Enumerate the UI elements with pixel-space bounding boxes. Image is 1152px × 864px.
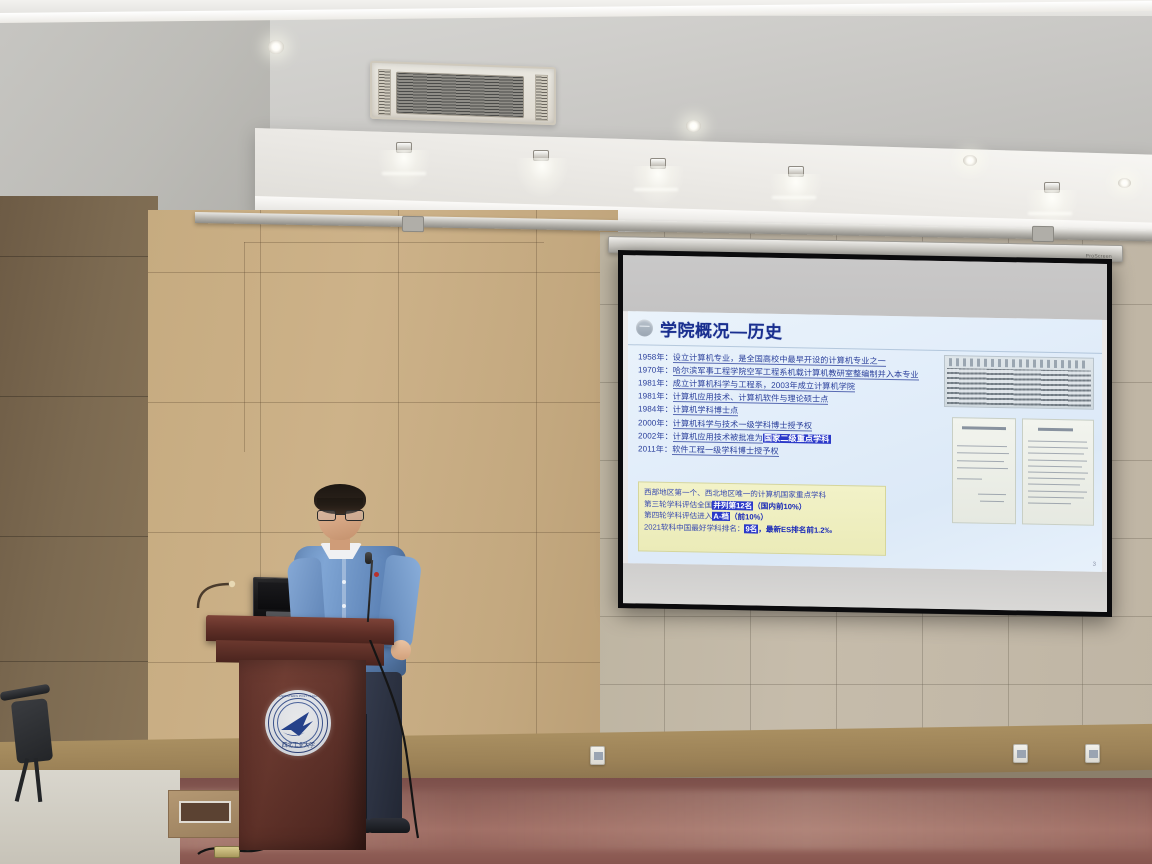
downlight-3 xyxy=(963,155,977,166)
timeline-year: 1958年： xyxy=(638,352,673,362)
slide-highlight-box: 西部地区第一个、西北地区唯一的计算机国家重点学科第三轮学科评估全国并列第12名（… xyxy=(638,481,886,556)
timeline-year: 1970年： xyxy=(638,365,673,375)
highlight-post: ，最新ES排名前1.2‰ xyxy=(758,524,832,534)
emblem-english-text: NORTHWESTERN POLYTECHNICAL UNIVERSITY xyxy=(270,694,326,704)
timeline-year: 1984年： xyxy=(638,405,673,415)
screen-letterbox-top xyxy=(623,255,1107,320)
emblem-chinese-text: 西北工业大学 xyxy=(273,742,323,751)
rail-bracket-1 xyxy=(402,216,424,232)
highlight-pre: 2021软科中国最好学科排名： xyxy=(644,522,744,533)
wall-outlet-3[interactable] xyxy=(1085,744,1100,763)
highlight-post: （国内前10%） xyxy=(753,501,806,511)
microphone-cable xyxy=(356,640,446,840)
ceiling-air-conditioner-icon xyxy=(370,61,556,125)
highlight-emphasis: 9名 xyxy=(744,524,758,533)
timeline-text: 软件工程一级学科博士授予权 xyxy=(672,445,779,457)
group-photo-crowd xyxy=(947,368,1091,407)
slide-bullet-icon: 一 xyxy=(636,319,653,336)
highlight-emphasis: A-档 xyxy=(712,512,730,521)
ac-grille xyxy=(396,72,524,118)
wall-outlet-1[interactable] xyxy=(590,746,605,765)
spotlight-5 xyxy=(1044,182,1060,193)
vga-connector[interactable] xyxy=(214,846,240,858)
microphone-indicator xyxy=(374,572,379,577)
timeline-text: 计算机应用技术被批准为 xyxy=(673,432,763,444)
chair-leg-2 xyxy=(34,758,43,802)
highlight-pre: 第四轮学科评估进入 xyxy=(644,511,712,521)
presenter-glasses-icon xyxy=(317,510,364,521)
spotlight-1-flare xyxy=(382,172,426,175)
spotlight-2 xyxy=(533,150,549,161)
spotlight-3-flare xyxy=(634,188,678,191)
projection-screen-surface: 一 学院概况—历史 1958年：设立计算机专业，是全国高校中最早开设的计算机专业… xyxy=(623,255,1107,612)
presentation-room-photo: ProScreen 一 学院概况—历史 1958年：设立计算机专业，是全国高校中… xyxy=(0,0,1152,864)
podium[interactable]: NORTHWESTERN POLYTECHNICAL UNIVERSITY 西北… xyxy=(239,660,366,850)
wall-outlet-2[interactable] xyxy=(1013,744,1028,763)
chair[interactable] xyxy=(6,700,66,830)
podium-gooseneck-lamp[interactable] xyxy=(196,580,236,610)
chair-backrest xyxy=(11,698,53,763)
timeline-text: 计算机科学与技术一级学科博士授予权 xyxy=(673,419,812,432)
ac-vent-left xyxy=(378,69,391,115)
timeline-year: 2000年： xyxy=(638,418,673,428)
highlight-post: （前10%） xyxy=(730,512,768,522)
projection-screen[interactable]: 一 学院概况—历史 1958年：设立计算机专业，是全国高校中最早开设的计算机专业… xyxy=(618,250,1112,617)
spotlight-5-flare xyxy=(1028,212,1072,215)
university-emblem-icon: NORTHWESTERN POLYTECHNICAL UNIVERSITY 西北… xyxy=(265,690,331,756)
floor-av-box[interactable] xyxy=(168,790,246,838)
floor-av-box-recess xyxy=(179,801,231,823)
timeline-year: 2002年： xyxy=(638,431,673,441)
slide-page-number: 3 xyxy=(1093,562,1096,568)
timeline-highlight: 国家二级重点学科 xyxy=(763,433,831,443)
rail-bracket-2 xyxy=(1032,226,1054,242)
highlight-pre: 第三轮学科评估全国 xyxy=(644,499,712,509)
slide-document-scan-right xyxy=(1022,418,1094,525)
ceiling-left-shadow xyxy=(0,0,270,212)
spotlight-4 xyxy=(788,166,804,177)
slide-title: 学院概况—历史 xyxy=(660,316,783,343)
downlight-1 xyxy=(268,40,284,54)
timeline-year: 1981年： xyxy=(638,379,673,389)
timeline-year: 1981年： xyxy=(638,392,673,402)
slide-group-photo-image xyxy=(944,355,1094,410)
group-photo-banner xyxy=(949,358,1089,369)
spotlight-3 xyxy=(650,158,666,169)
ac-vent-right xyxy=(535,75,548,121)
slide-highlight-list: 西部地区第一个、西北地区唯一的计算机国家重点学科第三轮学科评估全国并列第12名（… xyxy=(644,486,880,536)
spotlight-1 xyxy=(396,142,412,153)
downlight-4 xyxy=(1118,178,1131,188)
emblem-bird-icon xyxy=(279,710,317,738)
downlight-2 xyxy=(686,120,701,132)
slide-document-scan-left xyxy=(952,417,1016,524)
timeline-text: 计算机学科博士点 xyxy=(673,405,739,416)
highlight-emphasis: 并列第12名 xyxy=(712,500,753,510)
spotlight-4-flare xyxy=(772,196,816,199)
timeline-year: 2011年： xyxy=(638,444,672,454)
presentation-slide: 一 学院概况—历史 1958年：设立计算机专业，是全国高校中最早开设的计算机专业… xyxy=(628,311,1102,572)
highlight-pre: 西部地区第一个、西北地区唯一的计算机国家重点学科 xyxy=(644,487,826,499)
chair-leg-1 xyxy=(15,758,30,802)
